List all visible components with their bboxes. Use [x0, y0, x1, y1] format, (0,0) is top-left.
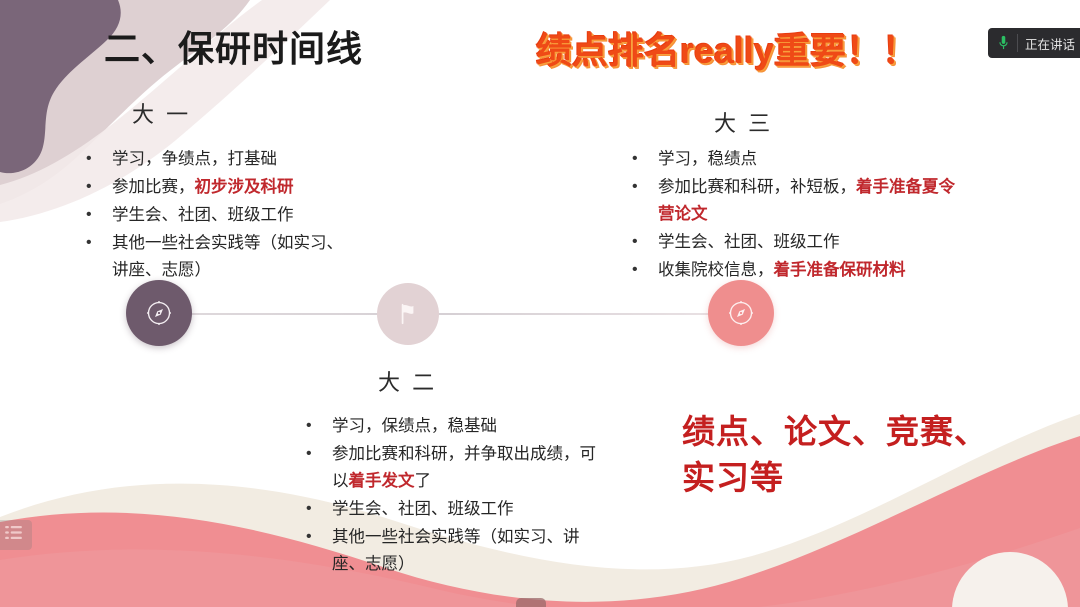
plain-text: 学习，保绩点，稳基础	[332, 417, 497, 435]
plain-text: 参加比赛和科研，补短板，	[658, 178, 856, 196]
highlighted-text: 着手准备保研材料	[774, 261, 906, 279]
column-heading-year2: 大 二	[378, 365, 437, 397]
list-item: 学生会、社团、班级工作	[302, 496, 612, 523]
callout-line-1: 绩点、论文、竞赛、	[682, 409, 1012, 455]
plain-text: 学生会、社团、班级工作	[332, 500, 514, 518]
page-title: 二、保研时间线	[104, 20, 363, 72]
speaking-indicator-badge[interactable]: 正在讲话	[988, 28, 1080, 58]
speaking-label: 正在讲话	[1025, 34, 1075, 53]
flag-icon	[395, 301, 421, 327]
list-item: 学习，稳绩点	[628, 146, 958, 173]
red-callout: 绩点、论文、竞赛、 实习等	[682, 409, 1012, 501]
plain-text: 了	[415, 472, 432, 490]
timeline-node-year2	[377, 283, 439, 345]
callout-line-2: 实习等	[682, 455, 1012, 501]
white-circle-accent	[952, 552, 1068, 607]
bullet-list-year2: 学习，保绩点，稳基础参加比赛和科研，并争取出成绩，可以着手发文了学生会、社团、班…	[302, 413, 612, 579]
column-heading-year1: 大 一	[132, 97, 191, 129]
list-item: 参加比赛和科研，并争取出成绩，可以着手发文了	[302, 441, 612, 495]
microphone-icon	[996, 33, 1010, 53]
timeline-node-year1	[126, 280, 192, 346]
timeline-node-year3	[708, 280, 774, 346]
plain-text: 学习，稳绩点	[658, 150, 757, 168]
list-item: 学习，争绩点，打基础	[82, 146, 352, 173]
list-item: 其他一些社会实践等（如实习、讲座、志愿）	[302, 524, 612, 578]
compass-icon	[144, 298, 174, 328]
list-menu-button[interactable]	[0, 520, 32, 550]
list-item: 学生会、社团、班级工作	[82, 202, 352, 229]
compass-icon	[726, 298, 756, 328]
bullet-list-year1: 学习，争绩点，打基础参加比赛，初步涉及科研学生会、社团、班级工作其他一些社会实践…	[82, 146, 352, 285]
list-item: 收集院校信息，着手准备保研材料	[628, 257, 958, 284]
highlighted-text: 初步涉及科研	[195, 178, 294, 196]
plain-text: 学习，争绩点，打基础	[112, 150, 277, 168]
plain-text: 收集院校信息，	[658, 261, 774, 279]
plain-text: 其他一些社会实践等（如实习、讲座、志愿）	[112, 234, 343, 279]
plain-text: 其他一些社会实践等（如实习、讲座、志愿）	[332, 528, 580, 573]
highlighted-text: 着手发文	[349, 472, 415, 490]
badge-divider	[1017, 34, 1018, 52]
plain-text: 学生会、社团、班级工作	[112, 206, 294, 224]
headline-banner: 绩点排名really重要！！	[536, 22, 918, 74]
list-item: 学生会、社团、班级工作	[628, 229, 958, 256]
plain-text: 学生会、社团、班级工作	[658, 233, 840, 251]
list-item: 学习，保绩点，稳基础	[302, 413, 612, 440]
bottom-handle-nub[interactable]	[516, 598, 546, 607]
list-item: 其他一些社会实践等（如实习、讲座、志愿）	[82, 230, 352, 284]
bullet-list-year3: 学习，稳绩点参加比赛和科研，补短板，着手准备夏令营论文学生会、社团、班级工作收集…	[628, 146, 958, 285]
presentation-slide: 二、保研时间线 绩点排名really重要！！	[0, 0, 1080, 607]
list-menu-icon	[5, 526, 22, 544]
plain-text: 参加比赛，	[112, 178, 195, 196]
list-item: 参加比赛和科研，补短板，着手准备夏令营论文	[628, 174, 958, 228]
list-item: 参加比赛，初步涉及科研	[82, 174, 352, 201]
column-heading-year3: 大 三	[714, 106, 773, 138]
timeline-connector	[158, 313, 742, 315]
